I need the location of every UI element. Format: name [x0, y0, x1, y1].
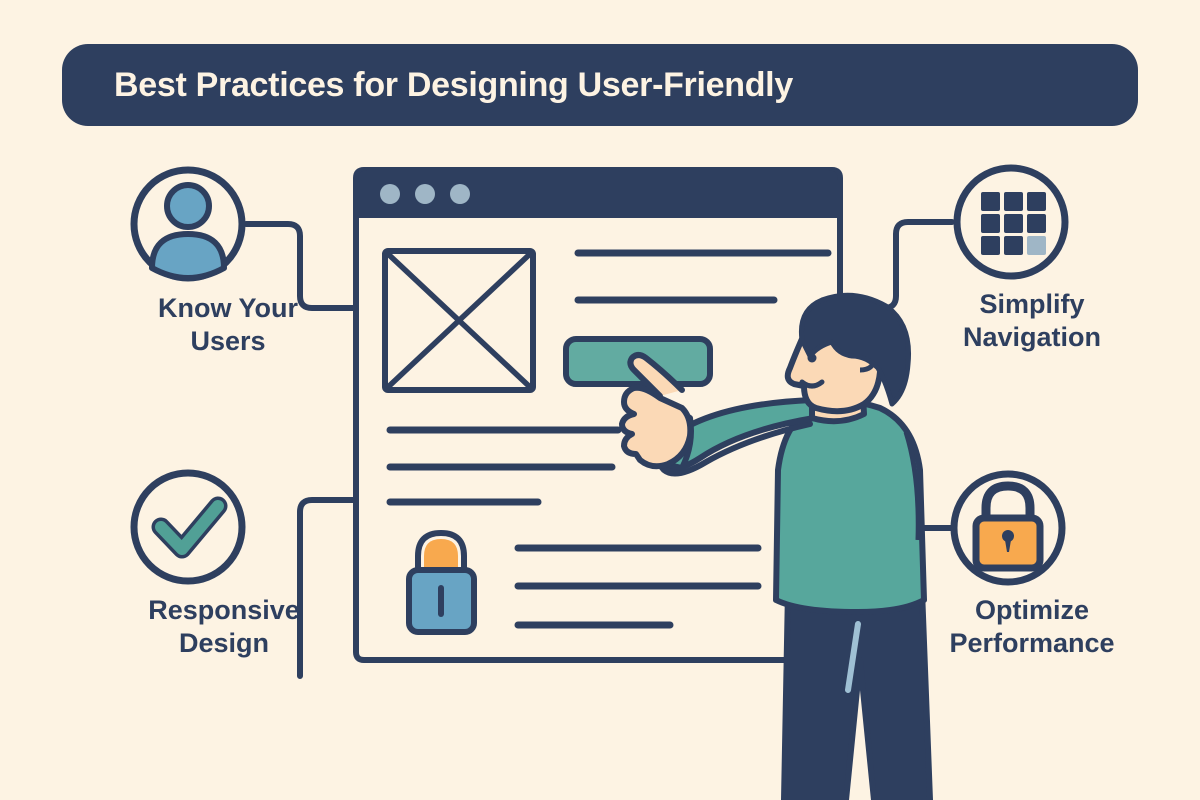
person-sweater: [776, 402, 924, 612]
image-placeholder-icon: [385, 251, 533, 390]
icon-circle-responsive-design[interactable]: [134, 473, 242, 581]
sidebar-node-simplify-navigation[interactable]: [957, 168, 1065, 276]
grid-cell: [981, 236, 1000, 255]
user-icon-head: [167, 185, 209, 227]
window-dot-1[interactable]: [380, 184, 400, 204]
sidebar-item-label-responsive-design: Responsive Design: [100, 594, 348, 660]
sidebar-node-responsive-design[interactable]: [134, 473, 242, 581]
grid-cell: [1004, 192, 1023, 211]
grid-cell-highlight: [1027, 236, 1046, 255]
sidebar-item-label-optimize-performance: Optimize Performance: [898, 594, 1166, 660]
padlock-icon: [409, 533, 474, 632]
grid-cell: [1027, 192, 1046, 211]
grid-cell: [1004, 214, 1023, 233]
grid-icon: [981, 192, 1046, 255]
infographic-canvas: Best Practices for Designing User-Friend…: [0, 0, 1200, 800]
window-dot-2[interactable]: [415, 184, 435, 204]
illustration-svg: [0, 0, 1200, 800]
grid-cell: [1027, 214, 1046, 233]
sidebar-node-know-your-users[interactable]: [134, 170, 242, 278]
user-icon-body: [152, 234, 224, 278]
sidebar-item-label-know-your-users: Know Your Users: [108, 292, 348, 358]
window-dot-3[interactable]: [450, 184, 470, 204]
grid-cell: [981, 214, 1000, 233]
sidebar-item-label-simplify-navigation: Simplify Navigation: [908, 288, 1156, 354]
grid-cell: [1004, 236, 1023, 255]
sidebar-node-optimize-performance[interactable]: [954, 474, 1062, 582]
grid-cell: [981, 192, 1000, 211]
